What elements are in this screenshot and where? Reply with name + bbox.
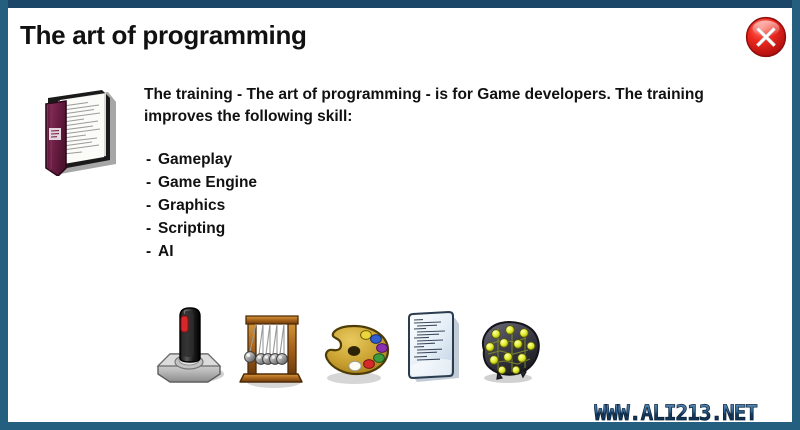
dialog-border-top bbox=[0, 0, 800, 8]
list-item-label: Gameplay bbox=[158, 151, 232, 168]
intro-paragraph: The training - The art of programming - … bbox=[144, 84, 704, 129]
list-dash: - bbox=[146, 240, 158, 263]
training-info-dialog: The art of programming bbox=[0, 0, 800, 430]
newtons-cradle-icon bbox=[232, 304, 312, 396]
dialog-content: The art of programming bbox=[8, 8, 792, 422]
list-item-label: AI bbox=[158, 243, 174, 260]
ai-brain-chip-icon bbox=[468, 304, 548, 396]
paint-palette-icon bbox=[314, 304, 394, 396]
list-item-label: Scripting bbox=[158, 220, 225, 237]
dialog-border-right bbox=[792, 0, 800, 430]
list-item: -Game Engine bbox=[146, 171, 257, 194]
close-x-circle-icon bbox=[745, 16, 787, 58]
page-title: The art of programming bbox=[20, 20, 307, 51]
list-item-label: Game Engine bbox=[158, 174, 257, 191]
list-dash: - bbox=[146, 171, 158, 194]
skill-list: -Gameplay -Game Engine -Graphics -Script… bbox=[146, 148, 257, 263]
dialog-border-left bbox=[0, 0, 8, 430]
skill-icon-strip bbox=[150, 304, 570, 396]
script-document-icon bbox=[393, 304, 473, 396]
list-dash: - bbox=[146, 148, 158, 171]
list-item: -Gameplay bbox=[146, 148, 257, 171]
joystick-icon bbox=[150, 304, 230, 396]
book-icon bbox=[36, 84, 122, 176]
list-item: -Graphics bbox=[146, 194, 257, 217]
list-item-label: Graphics bbox=[158, 197, 225, 214]
site-watermark: WWW.ALI213.NET bbox=[594, 400, 794, 426]
close-button[interactable] bbox=[745, 16, 787, 58]
list-dash: - bbox=[146, 194, 158, 217]
list-dash: - bbox=[146, 217, 158, 240]
list-item: -Scripting bbox=[146, 217, 257, 240]
list-item: -AI bbox=[146, 240, 257, 263]
watermark-text: WWW.ALI213.NET bbox=[594, 401, 757, 425]
